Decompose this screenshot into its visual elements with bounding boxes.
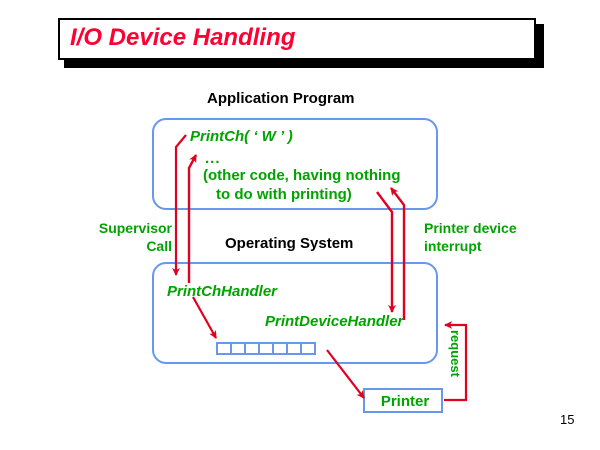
print-ch-handler-label: PrintChHandler xyxy=(167,283,277,300)
printer-label: Printer xyxy=(365,393,445,410)
application-code-line-2: ... xyxy=(205,150,221,167)
page-title: I/O Device Handling xyxy=(70,24,295,52)
slide-canvas: I/O Device Handling Application Program … xyxy=(0,0,600,450)
printer-device-interrupt-annotation: Printer device interrupt xyxy=(424,219,564,255)
application-code-line-4: to do with printing) xyxy=(216,186,352,203)
application-code-line-1: PrintCh( ‘ W ’ ) xyxy=(190,128,293,145)
print-device-handler-label: PrintDeviceHandler xyxy=(265,313,403,330)
application-program-caption: Application Program xyxy=(207,90,355,107)
print-queue xyxy=(216,342,316,355)
page-number: 15 xyxy=(560,412,574,427)
application-code-line-3: (other code, having nothing xyxy=(203,167,401,184)
request-annotation: request xyxy=(448,330,463,377)
supervisor-call-annotation: Supervisor Call xyxy=(84,219,172,255)
operating-system-caption: Operating System xyxy=(225,235,353,252)
queue-cell xyxy=(300,342,316,355)
printer-box: Printer xyxy=(363,388,443,413)
